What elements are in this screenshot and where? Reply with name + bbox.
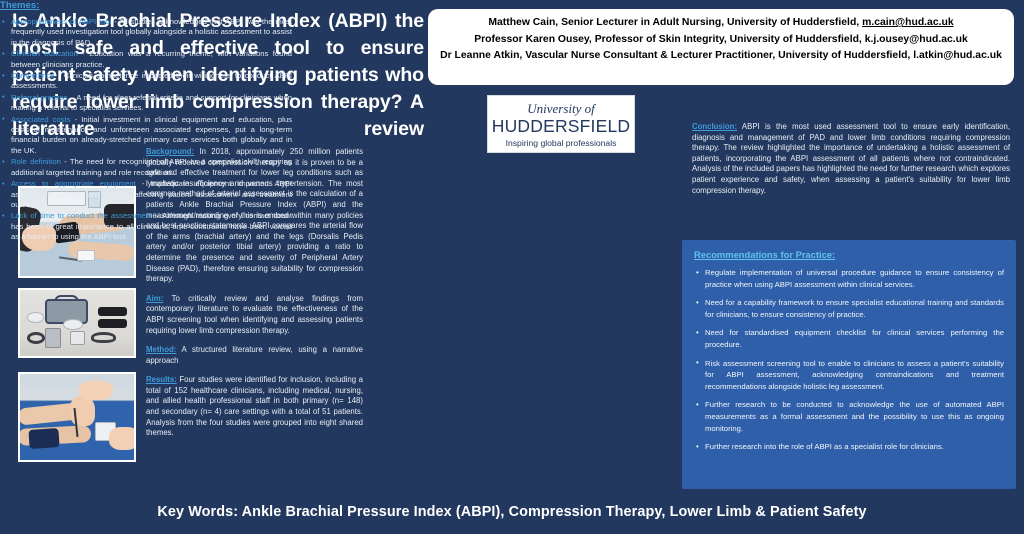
- conclusion-label: Conclusion:: [692, 122, 737, 131]
- theme-name: Appropriateness of ABPI tool: [11, 17, 111, 26]
- aim-text: To critically review and analyse finding…: [146, 294, 363, 335]
- conclusion-paragraph: Conclusion: ABPI is the most used assess…: [692, 122, 1010, 196]
- recommendations-heading: Recommendations for Practice:: [694, 249, 1004, 260]
- theme-name: Referral process: [11, 93, 68, 102]
- themes-list: Appropriateness of ABPI tool - All studi…: [0, 17, 292, 243]
- themes-column: Themes: Appropriateness of ABPI tool - A…: [0, 0, 292, 243]
- theme-item: Competence - Clinician competence impact…: [0, 71, 292, 92]
- author-1-email[interactable]: m.cain@hud.ac.uk: [862, 17, 954, 28]
- theme-name: Lack of time to conduct the assessment: [11, 211, 152, 220]
- photo-abpi-measurement: [18, 372, 136, 462]
- recommendations-list: Regulate implementation of universal pro…: [694, 267, 1004, 453]
- logo-line-huddersfield: HUDDERSFIELD: [492, 116, 631, 136]
- theme-name: Competence: [11, 71, 55, 80]
- aim-label: Aim:: [146, 294, 163, 303]
- theme-item: Associated costs - Initial investment in…: [0, 115, 292, 157]
- theme-item: Appropriateness of ABPI tool - All studi…: [0, 17, 292, 48]
- conclusion-block: Conclusion: ABPI is the most used assess…: [692, 122, 1010, 205]
- poster-canvas: Is Ankle Brachial Pressure Index (ABPI) …: [0, 0, 1024, 534]
- author-line-2: Professor Karen Ousey, Professor of Skin…: [438, 32, 1004, 49]
- theme-item: Lack of time to conduct the assessment –…: [0, 211, 292, 242]
- logo-line-university-of: University of: [527, 101, 595, 116]
- theme-item: Role definition - The need for recogniti…: [0, 157, 292, 178]
- method-paragraph: Method: A structured literature review, …: [146, 345, 363, 366]
- method-text: A structured literature review, using a …: [146, 345, 363, 365]
- recommendation-item: Need for standardised equipment checklis…: [694, 327, 1004, 350]
- theme-name: Associated costs: [11, 115, 71, 124]
- results-text: Four studies were identified for inclusi…: [146, 375, 363, 437]
- footer-bar: Key Words: Ankle Brachial Pressure Index…: [0, 490, 1024, 534]
- logo-tagline: Inspiring global professionals: [506, 137, 617, 150]
- theme-name: Clinician education: [11, 49, 78, 58]
- theme-item: Access to appropriate equipment - Inadeq…: [0, 179, 292, 210]
- keywords-text: Key Words: Ankle Brachial Pressure Index…: [157, 504, 866, 520]
- university-logo: University of HUDDERSFIELD Inspiring glo…: [487, 95, 635, 153]
- recommendation-item: Need for a capability framework to ensur…: [694, 297, 1004, 320]
- authors-box: Matthew Cain, Senior Lecturer in Adult N…: [428, 9, 1014, 85]
- theme-name: Access to appropriate equipment: [11, 179, 136, 188]
- author-1-text: Matthew Cain, Senior Lecturer in Adult N…: [488, 17, 862, 28]
- theme-item: Referral process – A need for clear refe…: [0, 93, 292, 114]
- photo-doppler-kit: [18, 288, 136, 358]
- recommendation-item: Regulate implementation of universal pro…: [694, 267, 1004, 290]
- author-line-1: Matthew Cain, Senior Lecturer in Adult N…: [438, 15, 1004, 32]
- author-line-3: Dr Leanne Atkin, Vascular Nurse Consulta…: [438, 48, 1004, 65]
- theme-name: Role definition: [11, 157, 61, 166]
- results-paragraph: Results: Four studies were identified fo…: [146, 375, 363, 439]
- recommendation-item: Further research to be conducted to ackn…: [694, 399, 1004, 434]
- theme-item: Clinician education - Education was a re…: [0, 49, 292, 70]
- conclusion-text: ABPI is the most used assessment tool to…: [692, 122, 1010, 195]
- recommendations-card: Recommendations for Practice: Regulate i…: [682, 240, 1016, 489]
- aim-paragraph: Aim: To critically review and analyse fi…: [146, 294, 363, 336]
- recommendation-item: Risk assessment screening tool to enable…: [694, 358, 1004, 393]
- method-label: Method:: [146, 345, 176, 354]
- results-label: Results:: [146, 375, 177, 384]
- recommendation-item: Further research into the role of ABPI a…: [694, 441, 1004, 453]
